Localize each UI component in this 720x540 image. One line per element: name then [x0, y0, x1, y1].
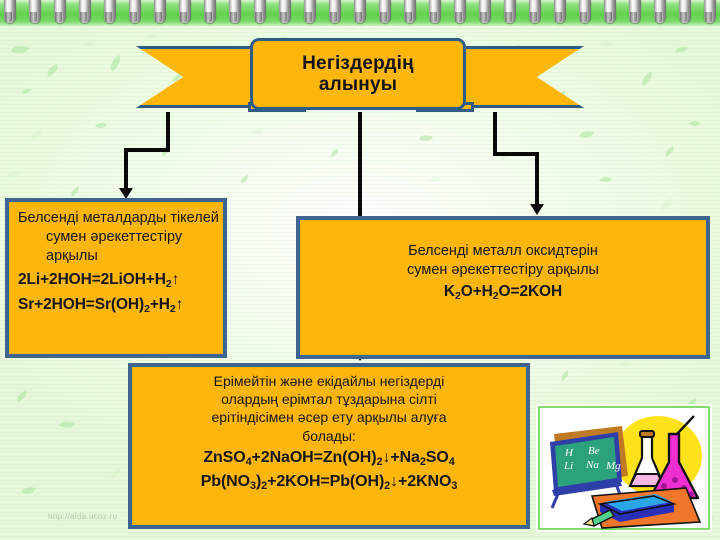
binding-ring	[579, 0, 591, 23]
binding-ring	[454, 0, 466, 23]
binding-ring	[354, 0, 366, 23]
connector-right-arrowhead	[530, 204, 544, 215]
slide-canvas: Негіздердің алынуы Белсенді металдарды т…	[0, 0, 720, 540]
binding-ring	[404, 0, 416, 23]
method-box-bottom-content: Ерімейтін және екідайлы негіздерді олард…	[132, 367, 526, 493]
page-title-line2: алынуы	[319, 74, 397, 95]
method-box-insoluble-amphoteric: Ерімейтін және екідайлы негіздерді олард…	[128, 363, 530, 529]
binding-ring	[554, 0, 566, 23]
page-title-line1: Негіздердің	[302, 53, 414, 74]
notebook-binding	[0, 0, 720, 26]
right-equation-0: K2O+H2O=2KOH	[309, 282, 697, 304]
binding-ring	[54, 0, 66, 23]
connector-left-vertical-b	[124, 148, 128, 190]
binding-ring	[29, 0, 41, 23]
method-box-left-content: Белсенді металдарды тікелей сумен әрекет…	[9, 202, 223, 317]
title-plaque: Негіздердің алынуы	[250, 38, 466, 110]
chalk-symbol-H: H	[564, 447, 574, 459]
binding-ring	[379, 0, 391, 23]
binding-ring	[704, 0, 716, 23]
binding-ring	[679, 0, 691, 23]
connector-left-vertical-a	[166, 112, 170, 152]
chalk-symbol-Be: Be	[588, 445, 600, 457]
binding-ring	[229, 0, 241, 23]
binding-ring	[629, 0, 641, 23]
binding-ring	[4, 0, 16, 23]
title-banner: Негіздердің алынуы	[136, 46, 584, 112]
left-text-line-1: сумен әрекеттестіру	[18, 228, 214, 247]
method-box-direct-metal-water: Белсенді металдарды тікелей сумен әрекет…	[5, 198, 227, 358]
binding-ring	[254, 0, 266, 23]
bottom-text-line-0: Ерімейтін және екідайлы негіздерді	[141, 372, 517, 390]
left-text-line-2: арқылы	[18, 247, 214, 266]
bottom-text-line-3: болады:	[141, 427, 517, 445]
binding-ring	[204, 0, 216, 23]
binding-ring	[79, 0, 91, 23]
chalk-symbol-Li: Li	[563, 460, 573, 472]
bottom-text-line-1: олардың ерімтал тұздарына сілті	[141, 390, 517, 408]
connector-right-horizontal	[493, 152, 539, 156]
watermark-text: http://aida.ucoz.ru	[48, 512, 117, 521]
left-text-line-0: Белсенді металдарды тікелей	[18, 209, 214, 228]
chalk-symbol-Na: Na	[585, 459, 599, 471]
binding-ring	[479, 0, 491, 23]
bottom-text-line-2: ерітіндісімен әсер ету арқылы алуға	[141, 408, 517, 426]
binding-ring	[304, 0, 316, 23]
binding-ring	[279, 0, 291, 23]
method-box-metal-oxide-water: Белсенді металл оксидтерін сумен әрекетт…	[296, 216, 710, 359]
right-text-line-0: Белсенді металл оксидтерін	[309, 242, 697, 261]
connector-right-vertical-a	[493, 112, 497, 156]
binding-ring	[129, 0, 141, 23]
left-equation-0: 2Li+2HOH=2LiOH+H2↑	[18, 270, 214, 292]
binding-ring	[154, 0, 166, 23]
binding-ring	[179, 0, 191, 23]
binding-ring	[104, 0, 116, 23]
binding-ring	[329, 0, 341, 23]
binding-ring	[654, 0, 666, 23]
binding-ring	[529, 0, 541, 23]
method-box-right-content: Белсенді металл оксидтерін сумен әрекетт…	[300, 220, 706, 303]
chemistry-clipart: H Li Be Na Mg	[536, 404, 712, 532]
right-text-line-1: сумен әрекеттестіру арқылы	[309, 261, 697, 280]
chalk-symbol-Mg: Mg	[605, 460, 621, 472]
bottom-equation-1: Pb(NO3)2+2KOH=Pb(OH)2↓+2KNO3	[141, 472, 517, 493]
connector-left-horizontal	[124, 148, 170, 152]
left-equation-1: Sr+2HOH=Sr(OH)2+H2↑	[18, 295, 214, 317]
binding-ring	[429, 0, 441, 23]
bottom-equation-0: ZnSO4+2NaOH=Zn(OH)2↓+Na2SO4	[141, 448, 517, 469]
connector-right-vertical-b	[535, 152, 539, 206]
binding-ring	[504, 0, 516, 23]
binding-ring	[604, 0, 616, 23]
